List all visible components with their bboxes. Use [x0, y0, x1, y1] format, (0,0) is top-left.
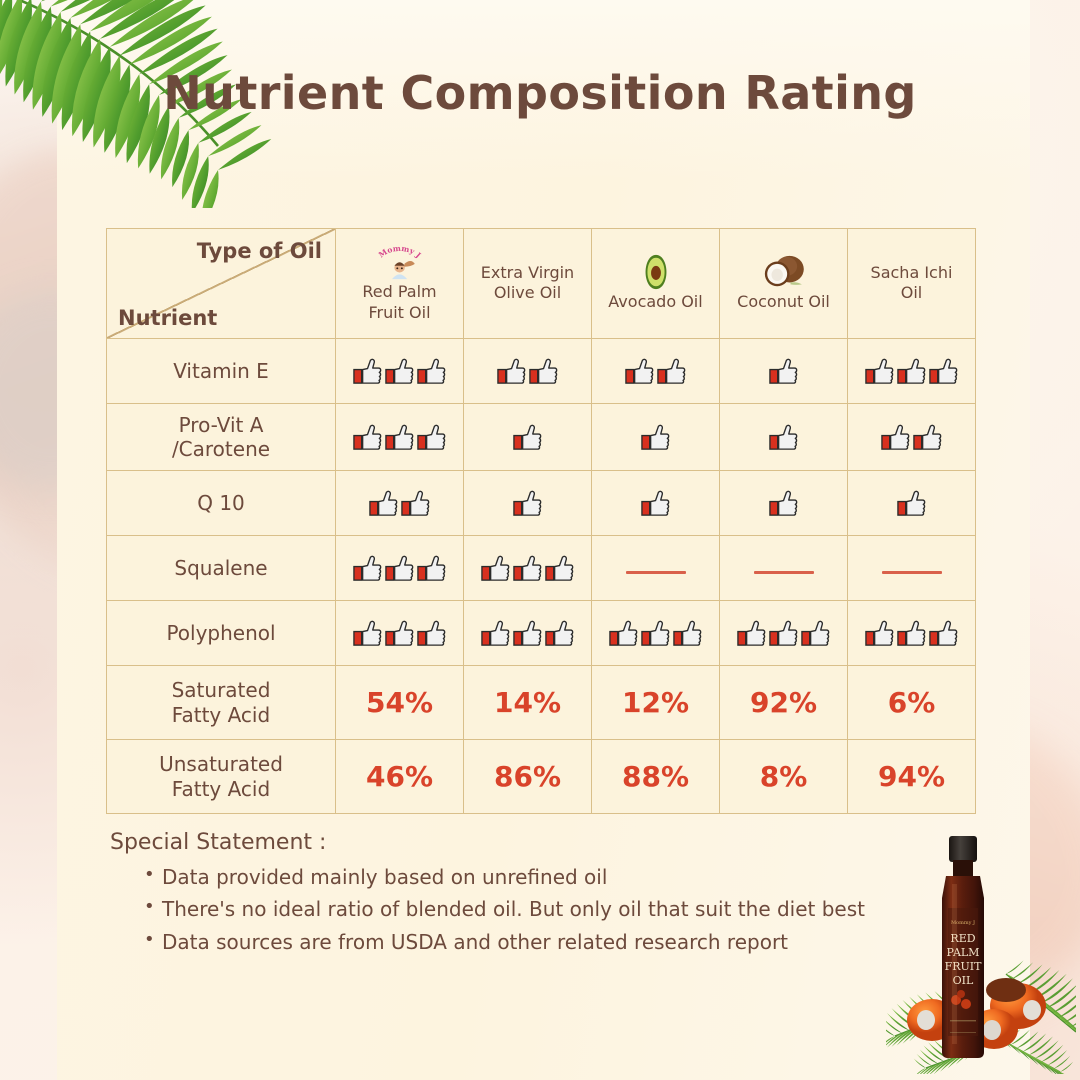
mommyj-logo-icon: Mommy J [373, 243, 426, 281]
statement-bullet-2: Data sources are from USDA and other rel… [144, 926, 920, 958]
nutrient-label-0: Vitamin E [107, 339, 336, 404]
thumbs-up-icon [416, 553, 447, 584]
rating-cell-r6-c2: 88% [592, 740, 720, 814]
rating-cell-r4-c3 [720, 601, 848, 666]
thumbs-up-icon [640, 422, 671, 453]
rating-cell-r3-c2 [592, 536, 720, 601]
table-header-row: Type of Oil Nutrient Mommy JRed PalmFrui… [107, 229, 976, 339]
thumbs-up-icon [352, 356, 383, 387]
svg-text:FRUIT: FRUIT [945, 960, 983, 973]
thumbs-up-icon [880, 422, 911, 453]
rating-cell-r6-c3: 8% [720, 740, 848, 814]
thumbs-up-icon [352, 618, 383, 649]
percent-value: 6% [888, 686, 936, 719]
thumbs-rating-3 [338, 553, 461, 584]
thumbs-up-icon [896, 618, 927, 649]
percent-value: 14% [494, 686, 561, 719]
oil-column-header-0: Mommy JRed PalmFruit Oil [336, 229, 464, 339]
rating-cell-r0-c3 [720, 339, 848, 404]
statement-bullet-0: Data provided mainly based on unrefined … [144, 861, 920, 893]
no-data-dash [754, 571, 814, 574]
nutrient-label-3: Squalene [107, 536, 336, 601]
rating-cell-r2-c3 [720, 471, 848, 536]
nutrient-label-line1: Vitamin E [113, 359, 329, 383]
thumbs-rating-3 [338, 618, 461, 649]
no-data-dash [626, 571, 686, 574]
special-statement-title: Special Statement : [110, 830, 920, 855]
oil-column-label: Red PalmFruit Oil [339, 282, 460, 322]
statement-bullet-1: There's no ideal ratio of blended oil. B… [144, 893, 920, 925]
rating-cell-r1-c0 [336, 404, 464, 471]
thumbs-rating-1 [466, 488, 589, 519]
rating-cell-r5-c2: 12% [592, 666, 720, 740]
thumbs-up-icon [928, 618, 959, 649]
rating-cell-r6-c1: 86% [464, 740, 592, 814]
thumbs-up-icon [624, 356, 655, 387]
nutrient-label-line1: Saturated [113, 678, 329, 702]
bottle-body: Mommy J RED PALM FRUIT OIL [942, 836, 984, 1058]
rating-cell-r2-c2 [592, 471, 720, 536]
rating-cell-r3-c3 [720, 536, 848, 601]
thumbs-up-icon [544, 618, 575, 649]
table-row: Polyphenol [107, 601, 976, 666]
table-row: Squalene [107, 536, 976, 601]
thumbs-up-icon [768, 618, 799, 649]
thumbs-rating-3 [338, 422, 461, 453]
percent-value: 46% [366, 760, 433, 793]
thumbs-rating-2 [594, 356, 717, 387]
nutrient-label-line2: /Carotene [113, 437, 329, 461]
percent-value: 88% [622, 760, 689, 793]
thumbs-up-icon [352, 553, 383, 584]
nutrient-composition-table: Type of Oil Nutrient Mommy JRed PalmFrui… [106, 228, 976, 814]
palm-leaflet [1018, 964, 1043, 983]
table-row: Q 10 [107, 471, 976, 536]
rating-cell-r4-c1 [464, 601, 592, 666]
thumbs-rating-3 [594, 618, 717, 649]
thumbs-up-icon [416, 422, 447, 453]
thumbs-up-icon [608, 618, 639, 649]
thumbs-up-icon [640, 488, 671, 519]
rating-cell-r3-c0 [336, 536, 464, 601]
nutrient-label-1: Pro-Vit A/Carotene [107, 404, 336, 471]
thumbs-rating-3 [850, 356, 973, 387]
rating-cell-r0-c1 [464, 339, 592, 404]
thumbs-up-icon [512, 422, 543, 453]
oil-column-label-line2: Fruit Oil [339, 303, 460, 323]
thumbs-rating-3 [722, 618, 845, 649]
oil-column-label-line2: Olive Oil [467, 283, 588, 303]
thumbs-up-icon [544, 553, 575, 584]
thumbs-rating-1 [722, 356, 845, 387]
rating-cell-r1-c1 [464, 404, 592, 471]
thumbs-rating-1 [594, 488, 717, 519]
no-data-dash [882, 571, 942, 574]
thumbs-up-icon [528, 356, 559, 387]
rating-cell-r2-c1 [464, 471, 592, 536]
rating-cell-r0-c4 [848, 339, 976, 404]
thumbs-up-icon [384, 422, 415, 453]
rating-cell-r2-c4 [848, 471, 976, 536]
thumbs-rating-1 [466, 422, 589, 453]
nutrient-label-line1: Q 10 [113, 491, 329, 515]
oil-column-header-2: Avocado Oil [592, 229, 720, 339]
nutrient-label-line1: Polyphenol [113, 621, 329, 645]
rating-cell-r1-c4 [848, 404, 976, 471]
table-row: SaturatedFatty Acid54%14%12%92%6% [107, 666, 976, 740]
nutrient-label-line2: Fatty Acid [113, 703, 329, 727]
percent-value: 8% [760, 760, 808, 793]
palm-leaflet [1048, 1050, 1068, 1065]
thumbs-up-icon [368, 488, 399, 519]
thumbs-rating-1 [722, 488, 845, 519]
thumbs-up-icon [512, 553, 543, 584]
nutrient-label-6: UnsaturatedFatty Acid [107, 740, 336, 814]
thumbs-rating-3 [466, 553, 589, 584]
thumbs-up-icon [640, 618, 671, 649]
thumbs-up-icon [656, 356, 687, 387]
thumbs-up-icon [864, 356, 895, 387]
thumbs-up-icon [400, 488, 431, 519]
table-row: Vitamin E [107, 339, 976, 404]
table-row: UnsaturatedFatty Acid46%86%88%8%94% [107, 740, 976, 814]
palm-leaflet [917, 1054, 932, 1066]
percent-value: 12% [622, 686, 689, 719]
rating-cell-r5-c3: 92% [720, 666, 848, 740]
percent-value: 94% [878, 760, 945, 793]
nutrient-label-line1: Unsaturated [113, 752, 329, 776]
product-bottle-image: Mommy J RED PALM FRUIT OIL [886, 824, 1076, 1074]
thumbs-up-icon [384, 553, 415, 584]
nutrient-label-line1: Pro-Vit A [113, 413, 329, 437]
palm-leaflet [914, 1058, 926, 1068]
thumbs-up-icon [672, 618, 703, 649]
rating-cell-r5-c0: 54% [336, 666, 464, 740]
thumbs-up-icon [416, 356, 447, 387]
rating-cell-r4-c0 [336, 601, 464, 666]
rating-cell-r6-c0: 46% [336, 740, 464, 814]
thumbs-up-icon [736, 618, 767, 649]
coconut-icon [762, 253, 806, 291]
thumbs-up-icon [512, 488, 543, 519]
nutrient-label-2: Q 10 [107, 471, 336, 536]
percent-value: 54% [366, 686, 433, 719]
oil-column-header-3: Coconut Oil [720, 229, 848, 339]
thumbs-up-icon [912, 422, 943, 453]
row-axis-label: Nutrient [118, 306, 217, 330]
rating-cell-r3-c1 [464, 536, 592, 601]
avocado-icon [637, 253, 675, 291]
nutrient-label-line2: Fatty Acid [113, 777, 329, 801]
svg-text:PALM: PALM [947, 946, 980, 959]
nutrient-label-5: SaturatedFatty Acid [107, 666, 336, 740]
thumbs-up-icon [800, 618, 831, 649]
rating-cell-r4-c4 [848, 601, 976, 666]
thumbs-up-icon [416, 618, 447, 649]
thumbs-up-icon [480, 553, 511, 584]
thumbs-rating-1 [594, 422, 717, 453]
oil-column-label: Avocado Oil [595, 292, 716, 312]
special-statement-list: Data provided mainly based on unrefined … [110, 861, 920, 958]
table-body: Vitamin EPro-Vit A/CaroteneQ 10SqualeneP… [107, 339, 976, 814]
thumbs-rating-3 [466, 618, 589, 649]
nutrient-label-4: Polyphenol [107, 601, 336, 666]
thumbs-up-icon [864, 618, 895, 649]
thumbs-up-icon [480, 618, 511, 649]
rating-cell-r4-c2 [592, 601, 720, 666]
oil-column-label-line2: Oil [851, 283, 972, 303]
percent-value: 92% [750, 686, 817, 719]
thumbs-rating-1 [850, 488, 973, 519]
rating-cell-r1-c3 [720, 404, 848, 471]
thumbs-up-icon [384, 618, 415, 649]
table-corner-cell: Type of Oil Nutrient [107, 229, 336, 339]
rating-cell-r0-c2 [592, 339, 720, 404]
percent-value: 86% [494, 760, 561, 793]
rating-cell-r6-c4: 94% [848, 740, 976, 814]
thumbs-up-icon [768, 488, 799, 519]
thumbs-up-icon [768, 422, 799, 453]
thumbs-rating-3 [850, 618, 973, 649]
rating-cell-r5-c1: 14% [464, 666, 592, 740]
special-statement-section: Special Statement : Data provided mainly… [110, 830, 920, 958]
column-axis-label: Type of Oil [197, 239, 322, 263]
oil-column-label: Extra VirginOlive Oil [467, 263, 588, 303]
palm-leaflet [1006, 960, 1024, 974]
thumbs-rating-2 [338, 488, 461, 519]
thumbs-up-icon [768, 356, 799, 387]
page-title: Nutrient Composition Rating [0, 66, 1080, 120]
rating-cell-r1-c2 [592, 404, 720, 471]
oil-column-header-1: Extra VirginOlive Oil [464, 229, 592, 339]
thumbs-up-icon [496, 356, 527, 387]
rating-cell-r0-c0 [336, 339, 464, 404]
thumbs-up-icon [896, 356, 927, 387]
thumbs-up-icon [384, 356, 415, 387]
oil-column-label: Coconut Oil [723, 292, 844, 312]
rating-cell-r2-c0 [336, 471, 464, 536]
oil-column-header-4: Sacha IchiOil [848, 229, 976, 339]
thumbs-up-icon [896, 488, 927, 519]
table-row: Pro-Vit A/Carotene [107, 404, 976, 471]
nutrient-label-line1: Squalene [113, 556, 329, 580]
svg-text:Mommy J: Mommy J [377, 244, 423, 260]
oil-column-label: Sacha IchiOil [851, 263, 972, 303]
thumbs-rating-2 [466, 356, 589, 387]
thumbs-up-icon [352, 422, 383, 453]
thumbs-rating-2 [850, 422, 973, 453]
rating-cell-r3-c4 [848, 536, 976, 601]
thumbs-rating-3 [338, 356, 461, 387]
thumbs-rating-1 [722, 422, 845, 453]
rating-cell-r5-c4: 6% [848, 666, 976, 740]
thumbs-up-icon [512, 618, 543, 649]
thumbs-up-icon [928, 356, 959, 387]
